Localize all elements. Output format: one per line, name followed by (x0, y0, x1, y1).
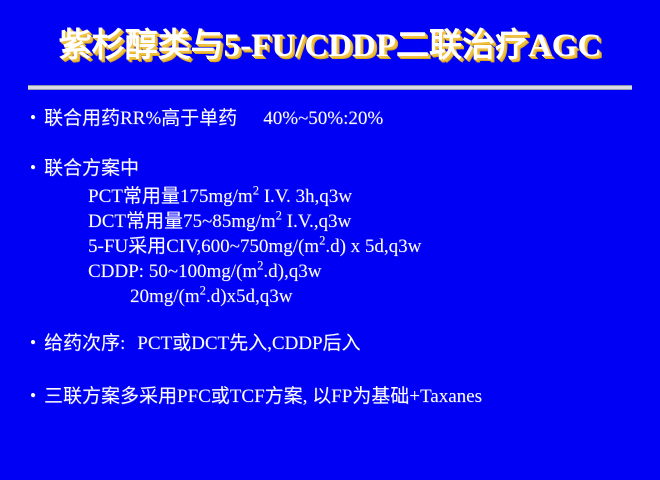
subline-4-post: .d),q3w (263, 261, 321, 282)
bullet-marker-icon: • (30, 332, 44, 354)
subline-item-2: DCT常用量75~85mg/m2 I.V.,q3w (88, 210, 351, 234)
bullet-marker-icon: • (30, 107, 44, 129)
subline-1-pre: PCT常用量175mg/m (88, 186, 253, 207)
subline-3-post: .d) x 5d,q3w (325, 236, 421, 257)
bullet-item-1-tail: 40%~50%:20% (263, 107, 383, 131)
subline-item-3: 5-FU采用CIV,600~750mg/(m2.d) x 5d,q3w (88, 235, 421, 259)
bullet-item-3-tail: PCT或DCT先入,CDDP后入 (137, 332, 360, 356)
subline-item-4: CDDP: 50~100mg/(m2.d),q3w (88, 260, 321, 284)
bullet-item-3-lead: 给药次序: (44, 332, 125, 356)
subline-item-1: PCT常用量175mg/m2 I.V. 3h,q3w (88, 185, 352, 209)
slide-title-block: 紫杉醇类与5-FU/CDDP二联治疗AGC (0, 28, 660, 65)
title-divider-rule (28, 85, 632, 90)
bullet-marker-icon: • (30, 385, 44, 407)
subline-1-post: I.V. 3h,q3w (259, 186, 352, 207)
slide-body: • 联合用药RR%高于单药 40%~50%:20% • 联合方案中 PCT常用量… (0, 100, 660, 480)
subline-5-post: .d)x5d,q3w (206, 286, 293, 307)
subline-5-pre: 20mg/(m (130, 286, 200, 307)
subline-3-pre: 5-FU采用CIV,600~750mg/(m (88, 236, 319, 257)
subline-2-post: I.V.,q3w (282, 211, 351, 232)
subline-item-5: 20mg/(m2.d)x5d,q3w (130, 285, 293, 309)
subline-2-pre: DCT常用量75~85mg/m (88, 211, 276, 232)
bullet-marker-icon: • (30, 157, 44, 179)
bullet-item-3: • 给药次序: PCT或DCT先入,CDDP后入 (30, 332, 361, 356)
presentation-slide: 紫杉醇类与5-FU/CDDP二联治疗AGC • 联合用药RR%高于单药 40%~… (0, 0, 660, 480)
bullet-item-1: • 联合用药RR%高于单药 40%~50%:20% (30, 107, 383, 131)
subline-4-pre: CDDP: 50~100mg/(m (88, 261, 257, 282)
bullet-item-2-lead: 联合方案中 (44, 157, 139, 181)
bullet-item-1-lead: 联合用药RR%高于单药 (44, 107, 237, 131)
bullet-item-4-lead: 三联方案多采用PFC或TCF方案, 以FP为基础+Taxanes (44, 385, 482, 409)
bullet-item-4: • 三联方案多采用PFC或TCF方案, 以FP为基础+Taxanes (30, 385, 482, 409)
page-title: 紫杉醇类与5-FU/CDDP二联治疗AGC (59, 28, 602, 65)
bullet-item-2: • 联合方案中 (30, 157, 139, 181)
